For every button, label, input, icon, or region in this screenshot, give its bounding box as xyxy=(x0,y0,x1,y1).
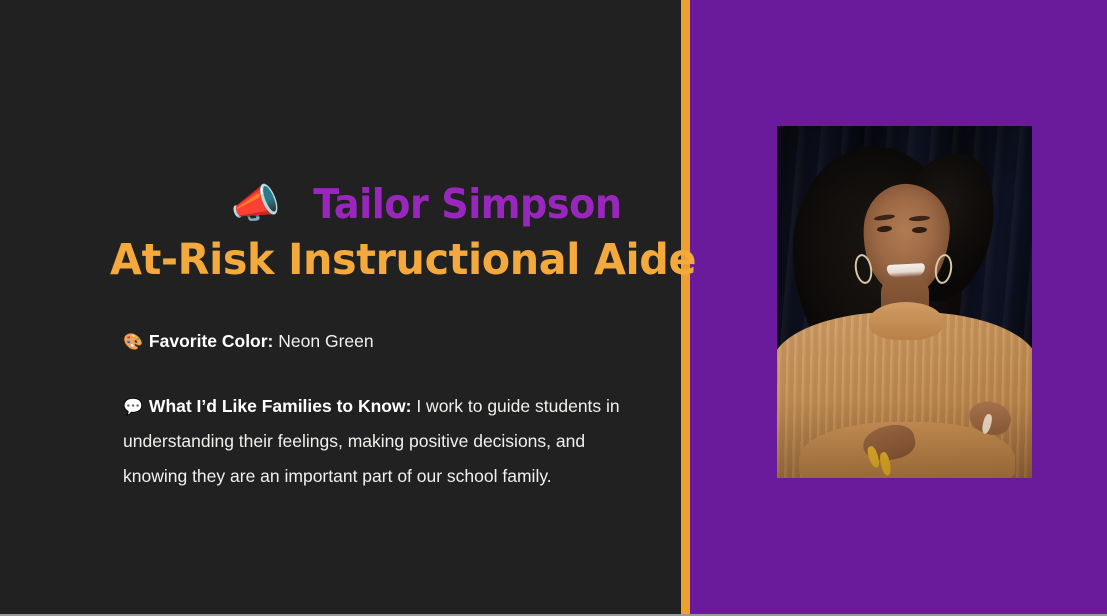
families-note-label: What I’d Like Families to Know: xyxy=(149,396,412,416)
portrait-turtleneck-collar xyxy=(869,302,943,340)
gold-vertical-divider xyxy=(681,0,690,616)
job-title: At-Risk Instructional Aide xyxy=(110,239,602,282)
megaphone-icon: 📣 xyxy=(231,184,281,224)
favorite-color-line: 🎨Favorite Color: Neon Green xyxy=(123,328,623,356)
person-name: Tailor Simpson xyxy=(314,184,622,225)
speech-balloon-icon: 💬 xyxy=(123,392,143,424)
staff-intro-slide: 📣 Tailor Simpson At-Risk Instructional A… xyxy=(0,0,1107,616)
favorite-color-label: Favorite Color: xyxy=(149,331,273,351)
heading-block: 📣 Tailor Simpson At-Risk Instructional A… xyxy=(110,178,622,282)
left-content-panel xyxy=(0,0,681,616)
name-row: 📣 Tailor Simpson xyxy=(110,178,622,230)
favorite-color-value: Neon Green xyxy=(278,331,373,351)
families-note-line: 💬What I’d Like Families to Know: I work … xyxy=(123,389,623,494)
portrait-photo xyxy=(777,126,1032,478)
body-block: 🎨Favorite Color: Neon Green 💬What I’d Li… xyxy=(123,328,623,494)
palette-icon: 🎨 xyxy=(123,331,143,356)
families-note-value: I work to guide xyxy=(416,396,530,416)
